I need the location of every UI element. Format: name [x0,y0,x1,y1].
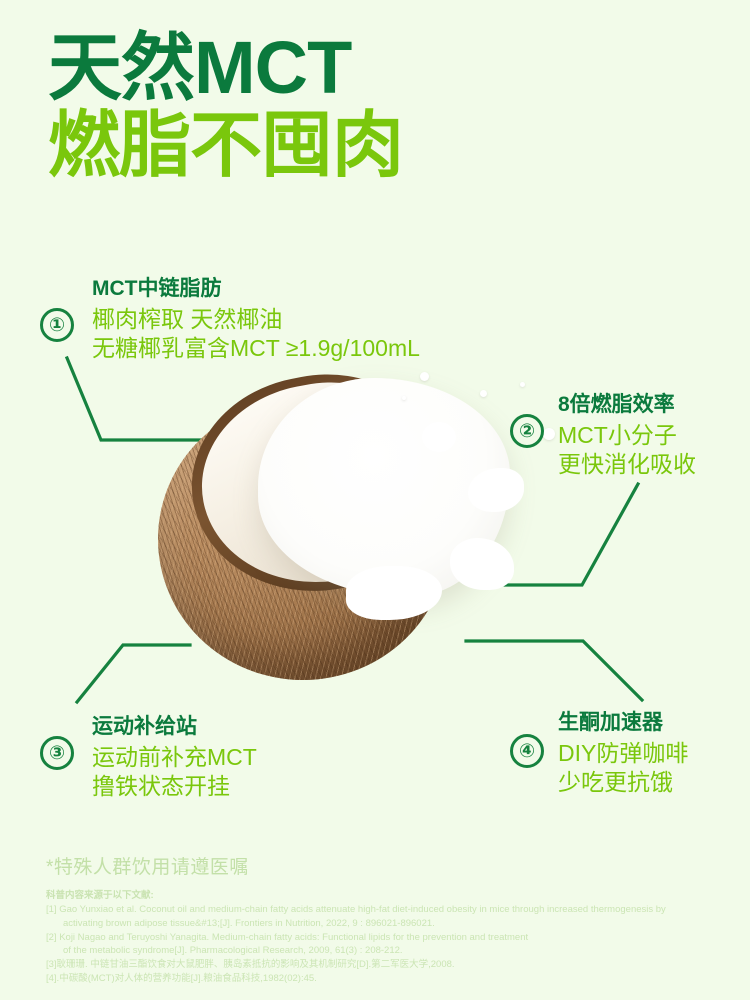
callout-4-number-badge: ④ [510,734,544,768]
milk-droplet [480,390,487,397]
callout-2-line-2: 更快消化吸收 [558,450,696,479]
callout-1-body: MCT中链脂肪 椰肉榨取 天然椰油 无糖椰乳富含MCT ≥1.9g/100mL [92,272,420,364]
callout-4-body: 生酮加速器 DIY防弹咖啡 少吃更抗饿 [558,706,688,798]
reference-item: [1] Gao Yunxiao et al. Coconut oil and m… [46,903,736,917]
milk-droplet [420,372,429,381]
reference-item: [2] Koji Nagao and Teruyoshi Yanagita. M… [46,931,736,945]
disclaimer-text: *特殊人群饮用请遵医嘱 [46,852,736,879]
callout-1-line-1: 椰肉榨取 天然椰油 [92,305,420,334]
headline-block: 天然MCT 燃脂不囤肉 [48,32,708,187]
reference-item: of the metabolic syndrome[J]. Pharmacolo… [46,944,736,958]
footer-block: *特殊人群饮用请遵医嘱 科普内容来源于以下文献: [1] Gao Yunxiao… [46,852,736,986]
poster-canvas: 天然MCT 燃脂不囤肉 ① MCT中链脂肪 椰肉榨取 天然椰油 无糖椰乳富含MC… [0,0,750,1000]
milk-splash-lobe [468,468,524,512]
reference-item: activating brown adipose tissue&#13;[J].… [46,917,736,931]
callout-2-line-1: MCT小分子 [558,421,696,450]
reference-item: [3]耿珊珊. 中链甘油三酯饮食对大鼠肥胖、胰岛素抵抗的影响及其机制研究[D].… [46,958,736,972]
callout-4-line-2: 少吃更抗饿 [558,768,688,797]
callout-4-title: 生酮加速器 [558,706,688,736]
callout-2-number-badge: ② [510,414,544,448]
callout-3-line-1: 运动前补充MCT [92,743,257,772]
milk-splash-lobe [422,422,456,452]
callout-1-title: MCT中链脂肪 [92,272,420,302]
milk-droplet [520,382,525,387]
callout-1-line-2: 无糖椰乳富含MCT ≥1.9g/100mL [92,334,420,363]
callout-3-title: 运动补给站 [92,710,257,740]
callout-1-number-badge: ① [40,308,74,342]
reference-heading: 科普内容来源于以下文献: [46,887,736,901]
reference-list: [1] Gao Yunxiao et al. Coconut oil and m… [46,903,736,986]
callout-3-line-2: 撸铁状态开挂 [92,772,257,801]
callout-2-title: 8倍燃脂效率 [558,388,696,418]
headline-line-2: 燃脂不囤肉 [48,111,708,182]
callout-4-line-1: DIY防弹咖啡 [558,739,688,768]
milk-droplet [543,428,555,440]
reference-item: [4].中碳酸(MCT)对人体的营养功能[J].粮油食品科技,1982(02):… [46,972,736,986]
callout-3-body: 运动补给站 运动前补充MCT 撸铁状态开挂 [92,710,257,802]
milk-splash-lobe [450,538,514,590]
callout-3-number-badge: ③ [40,736,74,770]
callout-2-body: 8倍燃脂效率 MCT小分子 更快消化吸收 [558,388,696,480]
coconut-illustration [150,370,510,690]
milk-droplet [402,396,406,400]
headline-line-1: 天然MCT [48,32,708,105]
